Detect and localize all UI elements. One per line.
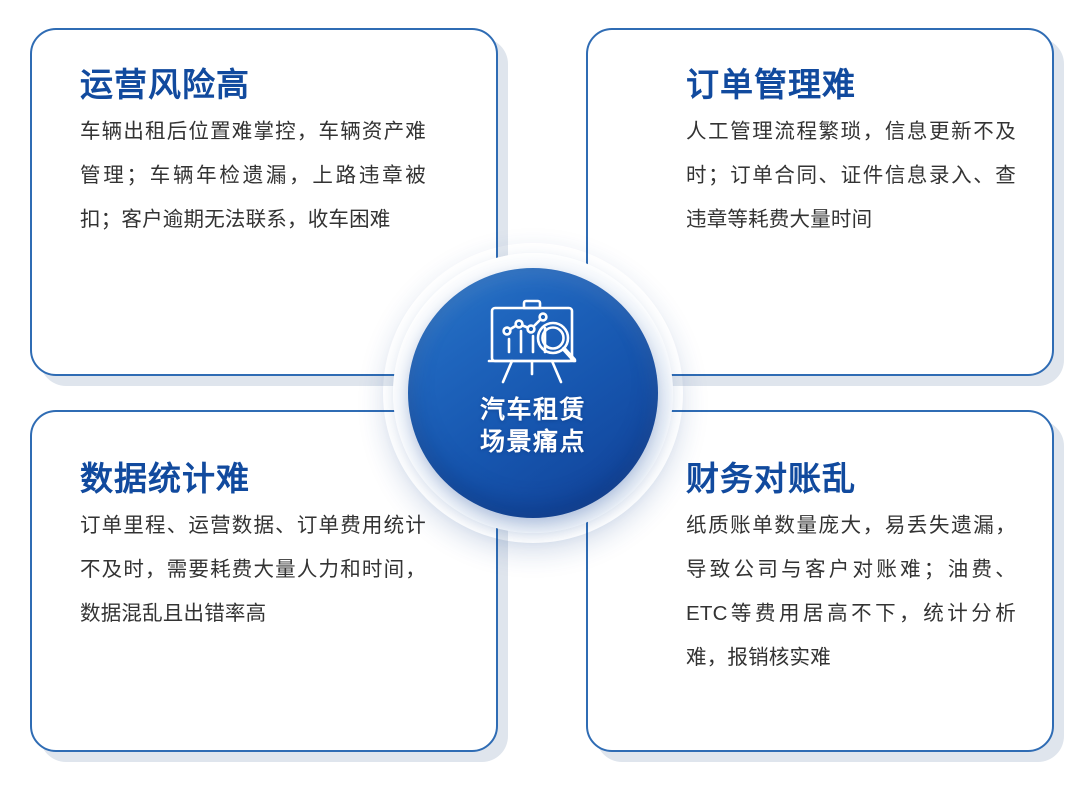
card-title-operation-risk: 运营风险高 bbox=[80, 66, 426, 104]
card-content: 订单管理难 人工管理流程繁琐，信息更新不及时；订单合同、证件信息录入、查违章等耗… bbox=[686, 66, 1016, 242]
card-body-finance-recon: 纸质账单数量庞大，易丢失遗漏，导致公司与客户对账难；油费、ETC等费用居高不下，… bbox=[686, 504, 1016, 680]
card-body-data-statistics: 订单里程、运营数据、订单费用统计不及时，需要耗费大量人力和时间，数据混乱且出错率… bbox=[80, 504, 426, 636]
card-title-order-management: 订单管理难 bbox=[686, 66, 1016, 104]
medallion-label-line2: 场景痛点 bbox=[480, 426, 586, 458]
center-medallion[interactable]: 汽车租赁 场景痛点 bbox=[383, 243, 683, 543]
medallion-label: 汽车租赁 场景痛点 bbox=[480, 394, 586, 458]
card-body-operation-risk: 车辆出租后位置难掌控，车辆资产难管理；车辆年检遗漏，上路违章被扣；客户逾期无法联… bbox=[80, 110, 426, 242]
card-title-data-statistics: 数据统计难 bbox=[80, 460, 426, 498]
medallion-label-line1: 汽车租赁 bbox=[480, 394, 586, 426]
card-content: 运营风险高 车辆出租后位置难掌控，车辆资产难管理；车辆年检遗漏，上路违章被扣；客… bbox=[80, 66, 426, 242]
card-body-order-management: 人工管理流程繁琐，信息更新不及时；订单合同、证件信息录入、查违章等耗费大量时间 bbox=[686, 110, 1016, 242]
pain-points-infographic: 运营风险高 车辆出租后位置难掌控，车辆资产难管理；车辆年检遗漏，上路违章被扣；客… bbox=[0, 0, 1080, 793]
medallion-disc: 汽车租赁 场景痛点 bbox=[408, 268, 658, 518]
card-title-finance-recon: 财务对账乱 bbox=[686, 460, 1016, 498]
card-content: 数据统计难 订单里程、运营数据、订单费用统计不及时，需要耗费大量人力和时间，数据… bbox=[80, 460, 426, 636]
card-content: 财务对账乱 纸质账单数量庞大，易丢失遗漏，导致公司与客户对账难；油费、ETC等费… bbox=[686, 460, 1016, 680]
presentation-chart-search-icon bbox=[481, 296, 585, 388]
